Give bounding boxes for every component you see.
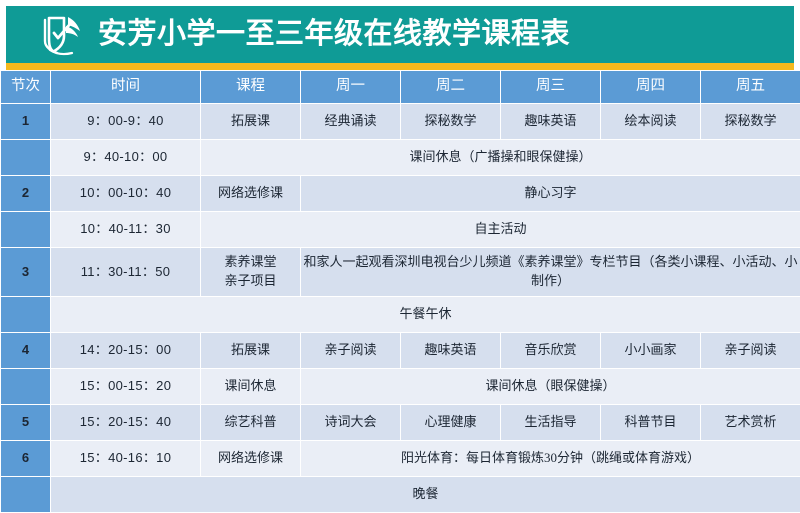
day-cell-4: 小小画家 [601, 333, 701, 369]
shield-book-wing-logo-icon [40, 14, 86, 56]
column-header-wednesday: 周三 [501, 71, 601, 104]
table-row: 10：40-11：30自主活动 [1, 212, 800, 248]
column-header-friday: 周五 [701, 71, 800, 104]
day-cell-5: 艺术赏析 [701, 405, 800, 441]
course-cell: 网络选修课 [201, 441, 301, 477]
period-number-cell: 5 [1, 405, 51, 441]
course-cell: 综艺科普 [201, 405, 301, 441]
course-cell: 拓展课 [201, 104, 301, 140]
table-row: 210：00-10：40网络选修课静心习字 [1, 176, 800, 212]
period-number-cell: 1 [1, 104, 51, 140]
day-cell-4: 绘本阅读 [601, 104, 701, 140]
table-header-row: 节次 时间 课程 周一 周二 周三 周四 周五 [1, 71, 800, 104]
table-row: 515：20-15：40综艺科普诗词大会心理健康生活指导科普节目艺术赏析 [1, 405, 800, 441]
table-row: 414：20-15：00拓展课亲子阅读趣味英语音乐欣赏小小画家亲子阅读 [1, 333, 800, 369]
day-cell-2: 趣味英语 [401, 333, 501, 369]
table-row: 9：40-10：00课间休息（广播操和眼保健操） [1, 140, 800, 176]
period-number-cell: 6 [1, 441, 51, 477]
period-number-cell: 3 [1, 248, 51, 297]
merged-activity-cell: 阳光体育：每日体育锻炼30分钟（跳绳或体育游戏） [301, 441, 800, 477]
column-header-thursday: 周四 [601, 71, 701, 104]
time-cell: 15：40-16：10 [51, 441, 201, 477]
day-cell-1: 亲子阅读 [301, 333, 401, 369]
table-row: 晚餐 [1, 477, 800, 513]
day-cell-1: 经典诵读 [301, 104, 401, 140]
schedule-table-container: 节次 时间 课程 周一 周二 周三 周四 周五 19：00-9：40拓展课经典诵… [0, 70, 800, 450]
period-number-cell [1, 477, 51, 513]
time-cell: 9：40-10：00 [51, 140, 201, 176]
period-number-cell [1, 297, 51, 333]
day-cell-5: 探秘数学 [701, 104, 800, 140]
column-header-tuesday: 周二 [401, 71, 501, 104]
table-body: 19：00-9：40拓展课经典诵读探秘数学趣味英语绘本阅读探秘数学9：40-10… [1, 104, 800, 513]
day-cell-4: 科普节目 [601, 405, 701, 441]
day-cell-3: 生活指导 [501, 405, 601, 441]
time-cell: 9：00-9：40 [51, 104, 201, 140]
time-cell: 10：00-10：40 [51, 176, 201, 212]
page-banner: 安芳小学一至三年级在线教学课程表 [0, 0, 800, 63]
period-number-cell [1, 140, 51, 176]
banner-accent-strip [0, 63, 800, 70]
period-number-cell [1, 212, 51, 248]
time-cell: 11：30-11：50 [51, 248, 201, 297]
table-row: 311：30-11：50素养课堂亲子项目和家人一起观看深圳电视台少儿频道《素养课… [1, 248, 800, 297]
day-cell-3: 趣味英语 [501, 104, 601, 140]
column-header-time: 时间 [51, 71, 201, 104]
day-cell-2: 心理健康 [401, 405, 501, 441]
merged-activity-cell: 课间休息（眼保健操） [301, 369, 800, 405]
day-cell-2: 探秘数学 [401, 104, 501, 140]
table-row: 午餐午休 [1, 297, 800, 333]
banner-content: 安芳小学一至三年级在线教学课程表 [6, 14, 570, 56]
period-number-cell: 4 [1, 333, 51, 369]
merged-activity-cell: 自主活动 [201, 212, 800, 248]
column-header-monday: 周一 [301, 71, 401, 104]
merged-activity-cell: 和家人一起观看深圳电视台少儿频道《素养课堂》专栏节目（各类小课程、小活动、小制作… [301, 248, 800, 297]
course-cell: 素养课堂亲子项目 [201, 248, 301, 297]
merged-activity-cell: 课间休息（广播操和眼保健操） [201, 140, 800, 176]
course-cell: 网络选修课 [201, 176, 301, 212]
table-row: 15：00-15：20课间休息课间休息（眼保健操） [1, 369, 800, 405]
course-cell: 课间休息 [201, 369, 301, 405]
merged-activity-cell: 静心习字 [301, 176, 800, 212]
course-cell: 拓展课 [201, 333, 301, 369]
page-title: 安芳小学一至三年级在线教学课程表 [98, 20, 570, 49]
merged-activity-cell: 午餐午休 [51, 297, 800, 333]
time-cell: 10：40-11：30 [51, 212, 201, 248]
day-cell-5: 亲子阅读 [701, 333, 800, 369]
column-header-course: 课程 [201, 71, 301, 104]
time-cell: 15：20-15：40 [51, 405, 201, 441]
day-cell-3: 音乐欣赏 [501, 333, 601, 369]
schedule-table: 节次 时间 课程 周一 周二 周三 周四 周五 19：00-9：40拓展课经典诵… [0, 70, 800, 513]
period-number-cell [1, 369, 51, 405]
table-row: 19：00-9：40拓展课经典诵读探秘数学趣味英语绘本阅读探秘数学 [1, 104, 800, 140]
time-cell: 15：00-15：20 [51, 369, 201, 405]
column-header-period: 节次 [1, 71, 51, 104]
time-cell: 14：20-15：00 [51, 333, 201, 369]
table-row: 615：40-16：10网络选修课阳光体育：每日体育锻炼30分钟（跳绳或体育游戏… [1, 441, 800, 477]
day-cell-1: 诗词大会 [301, 405, 401, 441]
period-number-cell: 2 [1, 176, 51, 212]
merged-activity-cell: 晚餐 [51, 477, 800, 513]
